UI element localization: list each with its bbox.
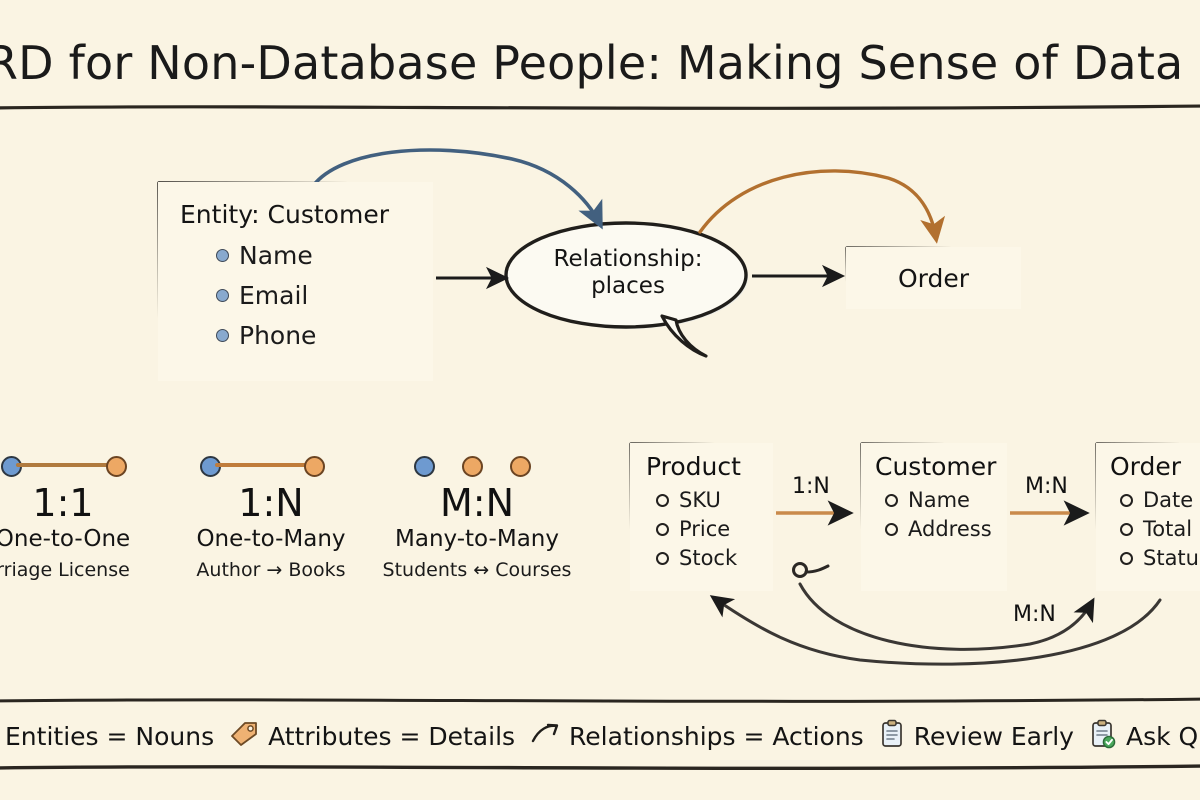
legend-glyph-many-to-many: [352, 452, 602, 478]
footer-tips: Entities = Nouns Attributes = Details Re…: [0, 714, 1200, 758]
cardinality-label-crossing: M:N: [1013, 602, 1056, 627]
order-entity-box[interactable]: Order: [846, 247, 1021, 309]
legend-dot-orange-icon: [510, 456, 531, 477]
legend-code: M:N: [352, 484, 602, 524]
bullet-icon: [216, 329, 229, 342]
list-item: Status: [1120, 546, 1200, 570]
footer-label: Entities = Nouns: [5, 722, 214, 751]
flow-attribute-list: Date Total Status: [1110, 488, 1200, 570]
attribute-label: Price: [679, 517, 730, 541]
legend-item-many-to-many[interactable]: M:N Many-to-Many Students ↔ Courses: [352, 452, 602, 582]
legend-dot-orange-icon: [304, 456, 325, 477]
bullet-icon: [216, 289, 229, 302]
attribute-label: Stock: [679, 546, 737, 570]
flow-entity-product[interactable]: Product SKU Price Stock: [630, 443, 773, 591]
flow-entity-order[interactable]: Order Date Total Status: [1096, 443, 1200, 591]
order-title: Order: [898, 264, 969, 293]
list-item: Address: [885, 517, 1007, 541]
bullet-icon: [885, 523, 898, 536]
attribute-label: Total: [1143, 517, 1192, 541]
tag-icon: [229, 720, 259, 752]
diagram-canvas: RD for Non-Database People: Making Sense…: [0, 0, 1200, 800]
bullet-icon: [656, 523, 669, 536]
entity-customer-box[interactable]: Entity: Customer Name Email Phone: [158, 182, 433, 381]
ink-layer: [0, 0, 1200, 800]
footer-label: Relationships = Actions: [569, 722, 864, 751]
bullet-icon: [885, 494, 898, 507]
legend-example: Students ↔ Courses: [352, 560, 602, 582]
legend-dot-blue-icon: [414, 456, 435, 477]
attribute-label: Name: [908, 488, 970, 512]
footer-label: Ask Ques: [1126, 722, 1200, 751]
list-item: Name: [216, 241, 433, 270]
attribute-label: Date: [1143, 488, 1193, 512]
flow-attribute-list: SKU Price Stock: [646, 488, 773, 570]
clipboard-check-icon: [1089, 719, 1117, 753]
legend-name: Many-to-Many: [352, 526, 602, 552]
cardinality-label-product-customer: 1:N: [792, 474, 830, 499]
cardinality-label-customer-order: M:N: [1025, 474, 1068, 499]
footer-label: Attributes = Details: [268, 722, 515, 751]
legend-dot-orange-icon: [462, 456, 483, 477]
flow-entity-title: Product: [646, 452, 773, 481]
footer-item-relationships[interactable]: Relationships = Actions: [530, 721, 864, 751]
flow-entity-title: Customer: [875, 452, 1007, 481]
relationship-bubble[interactable]: Relationship: places: [508, 224, 748, 330]
attribute-label: Name: [239, 241, 313, 270]
flow-attribute-list: Name Address: [875, 488, 1007, 541]
legend-connector-line: [16, 463, 109, 467]
attribute-label: SKU: [679, 488, 721, 512]
list-item: Email: [216, 281, 433, 310]
list-item: Price: [656, 517, 773, 541]
footer-item-ask-questions[interactable]: Ask Ques: [1089, 719, 1200, 753]
clipboard-icon: [879, 719, 905, 753]
list-item: Name: [885, 488, 1007, 512]
attribute-label: Status: [1143, 546, 1200, 570]
list-item: SKU: [656, 488, 773, 512]
attribute-label: Phone: [239, 321, 316, 350]
footer-item-entities[interactable]: Entities = Nouns: [0, 721, 214, 751]
bullet-icon: [1120, 552, 1133, 565]
footer-item-review-early[interactable]: Review Early: [879, 719, 1074, 753]
entity-title: Entity: Customer: [180, 200, 433, 229]
footer-label: Review Early: [914, 722, 1074, 751]
entity-attribute-list: Name Email Phone: [180, 241, 433, 350]
title-band: RD for Non-Database People: Making Sense…: [0, 0, 1200, 112]
list-item: Stock: [656, 546, 773, 570]
relationship-label-line2: places: [508, 273, 748, 300]
bullet-icon: [656, 494, 669, 507]
bullet-icon: [1120, 523, 1133, 536]
attribute-label: Address: [908, 517, 992, 541]
legend-connector-line: [215, 463, 307, 467]
bullet-icon: [216, 249, 229, 262]
list-item: Date: [1120, 488, 1200, 512]
flow-entity-customer[interactable]: Customer Name Address: [861, 443, 1007, 591]
list-item: Total: [1120, 517, 1200, 541]
relationship-label-line1: Relationship:: [508, 246, 748, 273]
attribute-label: Email: [239, 281, 308, 310]
page-title: RD for Non-Database People: Making Sense…: [0, 36, 1200, 90]
bullet-icon: [1120, 494, 1133, 507]
relationship-label: Relationship: places: [508, 246, 748, 300]
legend-dot-orange-icon: [106, 456, 127, 477]
footer-item-attributes[interactable]: Attributes = Details: [229, 720, 515, 752]
bullet-icon: [656, 552, 669, 565]
list-item: Phone: [216, 321, 433, 350]
flow-entity-title: Order: [1110, 452, 1200, 481]
arrow-icon: [530, 721, 560, 751]
